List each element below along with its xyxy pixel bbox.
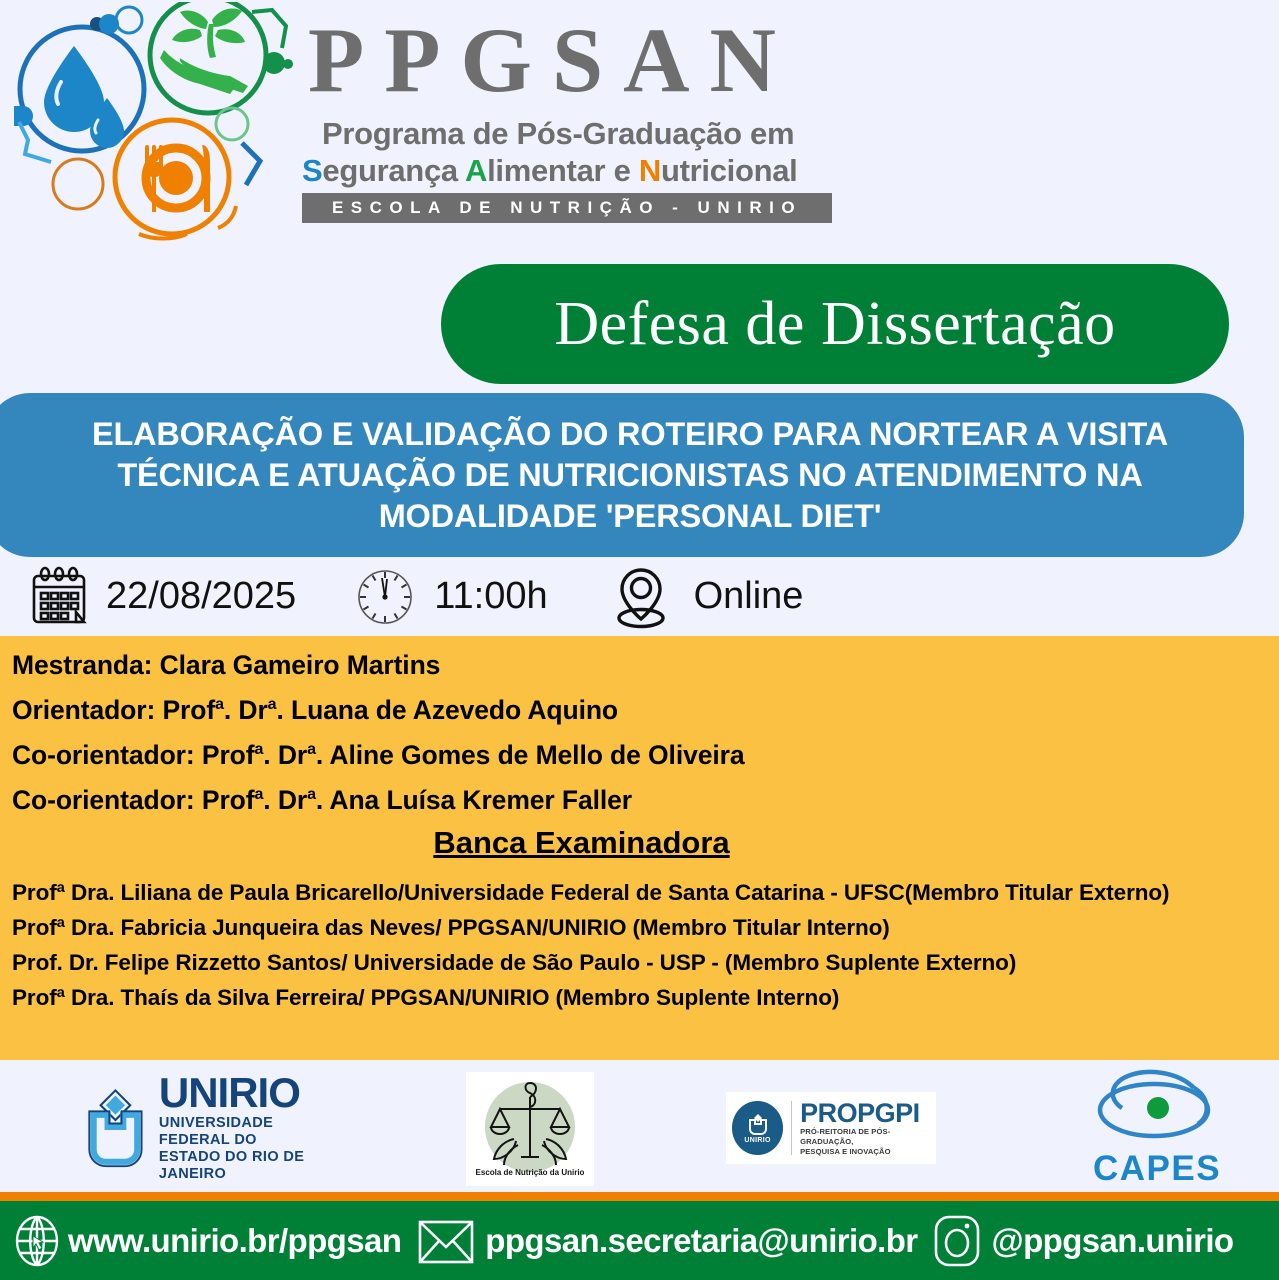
propgpi-shield-glyph: [746, 1112, 770, 1136]
banca-member: Prof. Dr. Felipe Rizzetto Santos/ Univer…: [12, 945, 1271, 980]
propgpi-logo: UNIRIO PROPGPI PRÓ-REITORIA DE PÓS-GRADU…: [726, 1092, 936, 1164]
contact-bar: www.unirio.br/ppgsan ppgsan.secretaria@u…: [0, 1201, 1279, 1280]
contact-website[interactable]: www.unirio.br/ppgsan: [12, 1212, 401, 1270]
propgpi-subtitle-2: PESQUISA E INOVAÇÃO: [800, 1147, 936, 1157]
header: PPGSAN Programa de Pós-Graduação em Segu…: [0, 0, 1279, 252]
event-date-text: 22/08/2025: [106, 575, 296, 618]
thesis-title-banner: ELABORAÇÃO E VALIDAÇÃO DO ROTEIRO PARA N…: [0, 393, 1244, 557]
event-location-text: Online: [694, 575, 804, 618]
ppgsan-school-strip: ESCOLA DE NUTRIÇÃO - UNIRIO: [302, 193, 832, 223]
event-location: Online: [610, 562, 804, 632]
contact-website-text: www.unirio.br/ppgsan: [68, 1222, 401, 1260]
plant-in-hand-icon: [160, 8, 248, 94]
calendar-icon: [26, 564, 92, 630]
ppgsan-logo-text: PPGSAN Programa de Pós-Graduação em Segu…: [300, 4, 860, 242]
banca-member: Profª Dra. Fabricia Junqueira das Neves/…: [12, 910, 1271, 945]
contact-email-text: ppgsan.secretaria@unirio.br: [485, 1222, 917, 1260]
propgpi-divider: [791, 1101, 792, 1155]
unirio-name: UNIRIO: [159, 1071, 348, 1115]
banca-heading: Banca Examinadora: [12, 821, 1271, 865]
thesis-title: ELABORAÇÃO E VALIDAÇÃO DO ROTEIRO PARA N…: [20, 414, 1210, 537]
logo-graphic: [4, 2, 300, 250]
unirio-shield-icon: [78, 1079, 153, 1175]
person-row: Mestranda: Clara Gameiro Martins: [12, 646, 1271, 685]
propgpi-subtitle-1: PRÓ-REITORIA DE PÓS-GRADUAÇÃO,: [800, 1127, 936, 1147]
escola-caption: Escola de Nutrição da Unirio: [476, 1168, 585, 1177]
ppgsan-subtitle-line2: Segurança Alimentar e Nutricional: [300, 152, 860, 190]
event-type-label: Defesa de Dissertação: [554, 289, 1115, 360]
capes-name: CAPES: [1082, 1149, 1232, 1189]
banca-member: Profª Dra. Liliana de Paula Bricarello/U…: [12, 875, 1271, 910]
banca-member: Profª Dra. Thaís da Silva Ferreira/ PPGS…: [12, 980, 1271, 1015]
capes-loop-icon: [1082, 1066, 1232, 1148]
event-meta-row: 22/08/2025 11:00h Onl: [0, 557, 1279, 636]
clock-icon: [354, 566, 416, 628]
envelope-icon: [415, 1214, 477, 1268]
capes-logo: CAPES: [1082, 1066, 1232, 1186]
ppgsan-logo-mark: [4, 2, 300, 250]
person-row: Co-orientador: Profa. Dra. Aline Gomes d…: [12, 730, 1271, 775]
event-time: 11:00h: [354, 566, 547, 628]
contact-instagram[interactable]: @ppgsan.unirio: [930, 1212, 1234, 1270]
propgpi-name: PROPGPI: [800, 1099, 936, 1127]
plate-cutlery-icon: [145, 145, 210, 212]
sponsor-logo-row: UNIRIO UNIVERSIDADE FEDERAL DO ESTADO DO…: [0, 1060, 1279, 1192]
event-type-banner: Defesa de Dissertação: [441, 264, 1229, 384]
contact-email[interactable]: ppgsan.secretaria@unirio.br: [415, 1214, 917, 1268]
unirio-subtitle-2: ESTADO DO RIO DE JANEIRO: [159, 1149, 348, 1183]
contact-instagram-text: @ppgsan.unirio: [992, 1222, 1234, 1260]
event-date: 22/08/2025: [26, 564, 296, 630]
propgpi-seal-label: UNIRIO: [744, 1137, 770, 1144]
propgpi-seal-icon: UNIRIO: [732, 1101, 783, 1155]
map-pin-icon: [610, 562, 672, 632]
scales-caduceus-icon: Escola de Nutrição da Unirio: [474, 1075, 586, 1183]
unirio-logo: UNIRIO UNIVERSIDADE FEDERAL DO ESTADO DO…: [78, 1072, 348, 1182]
event-time-text: 11:00h: [434, 575, 547, 618]
instagram-icon: [930, 1212, 984, 1270]
ppgsan-acronym: PPGSAN: [300, 4, 860, 116]
orange-divider: [0, 1192, 1279, 1201]
banca-member-list: Profª Dra. Liliana de Paula Bricarello/U…: [12, 875, 1271, 1015]
escola-de-nutricao-logo: Escola de Nutrição da Unirio: [466, 1072, 594, 1186]
unirio-subtitle-1: UNIVERSIDADE FEDERAL DO: [159, 1115, 348, 1149]
person-row: Co-orientador: Profa. Dra. Ana Luísa Kre…: [12, 775, 1271, 820]
details-panel: Mestranda: Clara Gameiro Martins Orienta…: [0, 636, 1279, 1060]
person-row: Orientador: Profa. Dra. Luana de Azevedo…: [12, 685, 1271, 730]
ppgsan-subtitle-line1: Programa de Pós-Graduação em: [300, 116, 860, 152]
globe-icon: [12, 1212, 62, 1270]
